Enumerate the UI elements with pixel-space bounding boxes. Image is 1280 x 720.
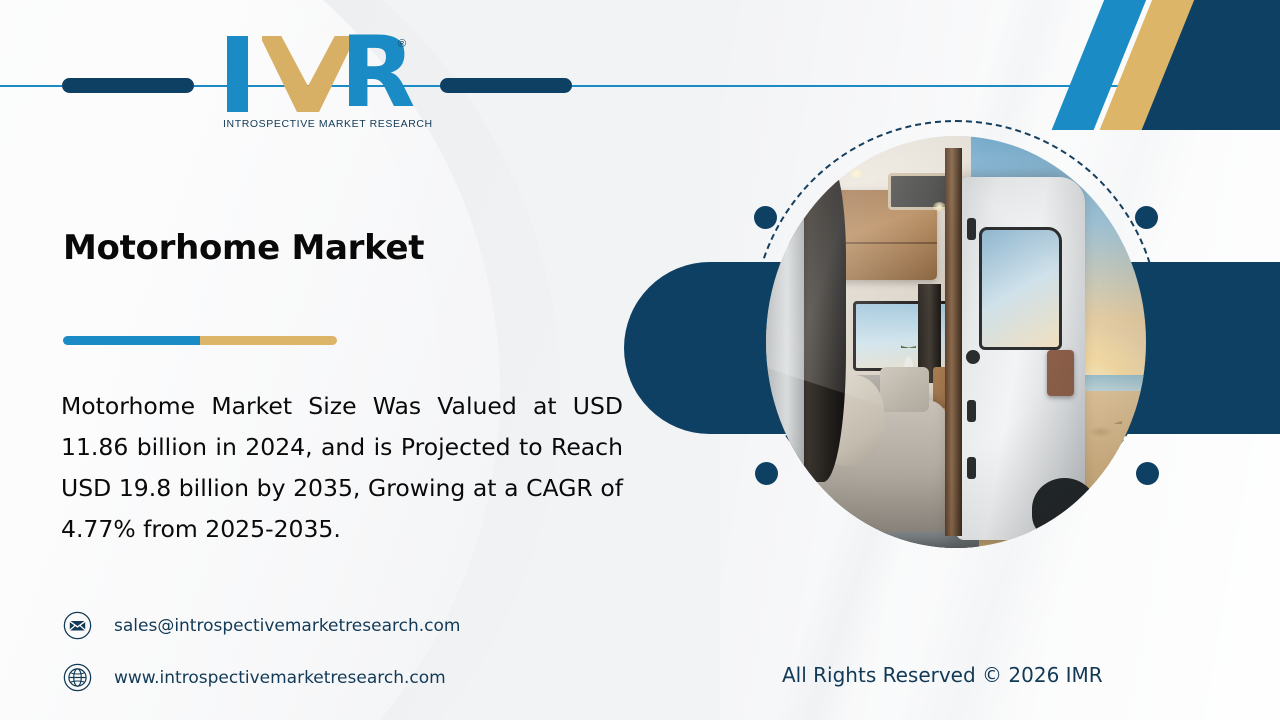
market-description: Motorhome Market Size Was Valued at USD … (61, 386, 623, 550)
globe-icon (63, 663, 92, 692)
logo-letterforms: R ® (222, 28, 414, 112)
email-address[interactable]: sales@introspectivemarketresearch.com (114, 616, 460, 636)
header-accent-bar-left (62, 78, 194, 93)
logo-letter-i (227, 36, 248, 112)
envelope-icon (63, 611, 92, 640)
page-title: Motorhome Market (63, 228, 424, 268)
logo-tagline: INTROSPECTIVE MARKET RESEARCH (223, 118, 415, 130)
imr-logo[interactable]: R ® INTROSPECTIVE MARKET RESEARCH (222, 28, 414, 138)
hero-image-motorhome (766, 136, 1146, 548)
contact-row-email[interactable]: sales@introspectivemarketresearch.com (63, 611, 460, 640)
header-accent-bar-right (440, 78, 572, 93)
title-divider-gold (200, 336, 337, 345)
title-divider (63, 336, 337, 345)
logo-letter-r: R (340, 36, 402, 112)
scene-vignette (766, 136, 1146, 548)
copyright-text: All Rights Reserved © 2026 IMR (782, 663, 1103, 687)
contact-row-website[interactable]: www.introspectivemarketresearch.com (63, 663, 446, 692)
website-url[interactable]: www.introspectivemarketresearch.com (114, 668, 446, 688)
title-divider-blue (63, 336, 200, 345)
hero-image-scene (766, 136, 1146, 548)
registered-trademark-icon: ® (398, 38, 406, 50)
market-report-banner: R ® INTROSPECTIVE MARKET RESEARCH (0, 0, 1280, 720)
